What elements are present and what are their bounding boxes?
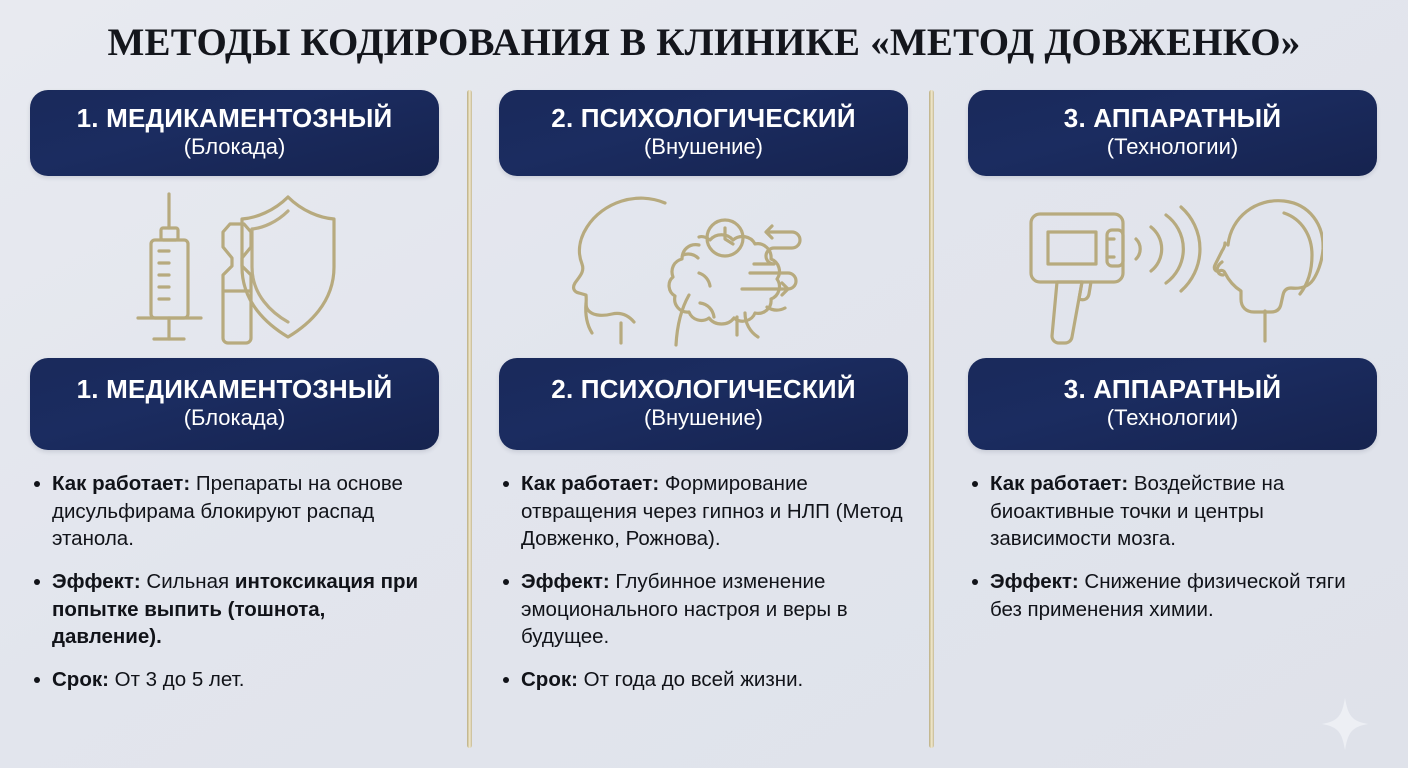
section-card-subtitle: (Технологии) (978, 405, 1367, 431)
section-card-title: 1. МЕДИКАМЕНТОЗНЫЙ (40, 375, 429, 403)
header-card-title: 1. МЕДИКАМЕНТОЗНЫЙ (40, 104, 429, 132)
bullet-item: Как работает: Воздействие на биоактивные… (968, 470, 1377, 553)
head-brain-clock-icon (559, 185, 849, 350)
bullet-list-medication: Как работает: Препараты на основе дисуль… (30, 470, 439, 694)
bullet-label: Срок: (52, 668, 109, 691)
bullet-item: Эффект: Снижение физической тяги без при… (968, 568, 1377, 623)
section-card-subtitle: (Блокада) (40, 405, 429, 431)
bullet-label: Эффект: (990, 570, 1079, 593)
bullet-item: Срок: От 3 до 5 лет. (30, 666, 439, 694)
header-card-psychological[interactable]: 2. ПСИХОЛОГИЧЕСКИЙ (Внушение) (499, 90, 908, 176)
bullet-label: Как работает: (521, 472, 659, 495)
icon-area-hardware (968, 176, 1377, 358)
laser-device-waves-head-icon (1023, 187, 1323, 347)
header-card-subtitle: (Внушение) (509, 134, 898, 160)
bullet-item: Эффект: Глубинное изменение эмоционально… (499, 568, 908, 651)
bullet-label: Эффект: (521, 570, 610, 593)
column-hardware: 3. АППАРАТНЫЙ (Технологии) (938, 90, 1407, 694)
header-card-medication[interactable]: 1. МЕДИКАМЕНТОЗНЫЙ (Блокада) (30, 90, 439, 176)
bullet-label: Как работает: (52, 472, 190, 495)
syringe-ampoule-shield-icon (120, 187, 350, 347)
bullet-text: От года до всей жизни. (578, 668, 803, 691)
columns-container: 1. МЕДИКАМЕНТОЗНЫЙ (Блокада) (0, 90, 1408, 694)
bullet-label: Эффект: (52, 570, 141, 593)
header-card-title: 3. АППАРАТНЫЙ (978, 104, 1367, 132)
header-card-title: 2. ПСИХОЛОГИЧЕСКИЙ (509, 104, 898, 132)
bullet-label: Как работает: (990, 472, 1128, 495)
sparkle-four-point-icon (1322, 698, 1368, 750)
bullet-list-hardware: Как работает: Воздействие на биоактивные… (968, 470, 1377, 623)
header-card-subtitle: (Технологии) (978, 134, 1367, 160)
section-card-medication[interactable]: 1. МЕДИКАМЕНТОЗНЫЙ (Блокада) (30, 358, 439, 450)
icon-area-psychological (499, 176, 908, 358)
bullet-list-psychological: Как работает: Формирование отвращения че… (499, 470, 908, 694)
bullet-text: Сильная (141, 570, 235, 593)
header-card-subtitle: (Блокада) (40, 134, 429, 160)
bullet-item: Эффект: Сильная интоксикация при попытке… (30, 568, 439, 651)
section-card-subtitle: (Внушение) (509, 405, 898, 431)
header-card-hardware[interactable]: 3. АППАРАТНЫЙ (Технологии) (968, 90, 1377, 176)
column-psychological: 2. ПСИХОЛОГИЧЕСКИЙ (Внушение) (469, 90, 938, 694)
section-card-psychological[interactable]: 2. ПСИХОЛОГИЧЕСКИЙ (Внушение) (499, 358, 908, 450)
section-card-hardware[interactable]: 3. АППАРАТНЫЙ (Технологии) (968, 358, 1377, 450)
section-card-title: 2. ПСИХОЛОГИЧЕСКИЙ (509, 375, 898, 403)
section-card-title: 3. АППАРАТНЫЙ (978, 375, 1367, 403)
bullet-item: Как работает: Формирование отвращения че… (499, 470, 908, 553)
bullet-item: Срок: От года до всей жизни. (499, 666, 908, 694)
icon-area-medication (30, 176, 439, 358)
bullet-text: От 3 до 5 лет. (109, 668, 244, 691)
infographic-page: МЕТОДЫ КОДИРОВАНИЯ В КЛИНИКЕ «МЕТОД ДОВЖ… (0, 0, 1408, 768)
bullet-item: Как работает: Препараты на основе дисуль… (30, 470, 439, 553)
column-medication: 1. МЕДИКАМЕНТОЗНЫЙ (Блокада) (0, 90, 469, 694)
page-title: МЕТОДЫ КОДИРОВАНИЯ В КЛИНИКЕ «МЕТОД ДОВЖ… (0, 20, 1408, 65)
bullet-label: Срок: (521, 668, 578, 691)
